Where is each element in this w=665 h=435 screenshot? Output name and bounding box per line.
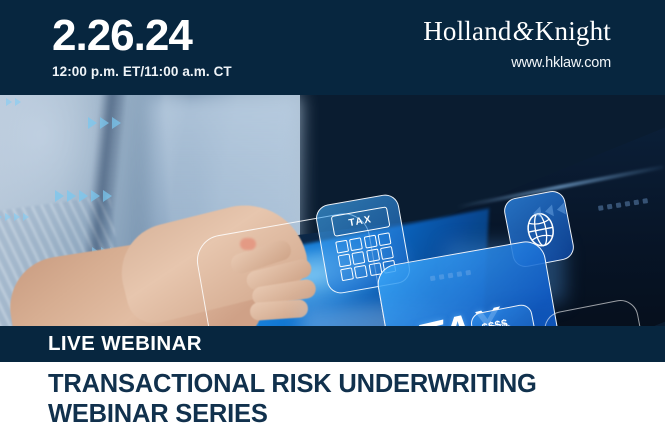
webinar-promo-card: 2.26.24 12:00 p.m. ET/11:00 a.m. CT Holl… xyxy=(0,0,665,435)
event-datetime-block: 2.26.24 12:00 p.m. ET/11:00 a.m. CT xyxy=(52,11,232,80)
arrow-motif-group xyxy=(0,213,29,221)
event-time: 12:00 p.m. ET/11:00 a.m. CT xyxy=(52,64,232,80)
arrow-motif-group xyxy=(6,98,21,106)
arrow-motif-group xyxy=(88,117,121,129)
event-date: 2.26.24 xyxy=(52,11,232,61)
live-webinar-strip: LIVE WEBINAR xyxy=(0,326,665,362)
eyebrow-label: LIVE WEBINAR xyxy=(48,332,202,356)
brand-name-first: Holland xyxy=(423,16,511,46)
brand-block: Holland&Knight www.hklaw.com xyxy=(423,16,611,72)
brand-name-last: Knight xyxy=(535,16,611,46)
title-block: TRANSACTIONAL RISK UNDERWRITING WEBINAR … xyxy=(0,362,665,435)
brand-wordmark: Holland&Knight xyxy=(423,16,611,47)
page-title: TRANSACTIONAL RISK UNDERWRITING WEBINAR … xyxy=(48,369,648,429)
page-title-line-2: WEBINAR SERIES xyxy=(48,399,648,429)
brand-website-url[interactable]: www.hklaw.com xyxy=(423,54,611,72)
header-bar: 2.26.24 12:00 p.m. ET/11:00 a.m. CT Holl… xyxy=(0,0,665,95)
hero-image: TAX TAX $$$$ xyxy=(0,95,665,326)
page-title-line-1: TRANSACTIONAL RISK UNDERWRITING xyxy=(48,369,648,399)
arrow-motif-group xyxy=(55,190,112,202)
ampersand-glyph: & xyxy=(512,16,535,46)
calculator-display: TAX xyxy=(331,206,391,237)
